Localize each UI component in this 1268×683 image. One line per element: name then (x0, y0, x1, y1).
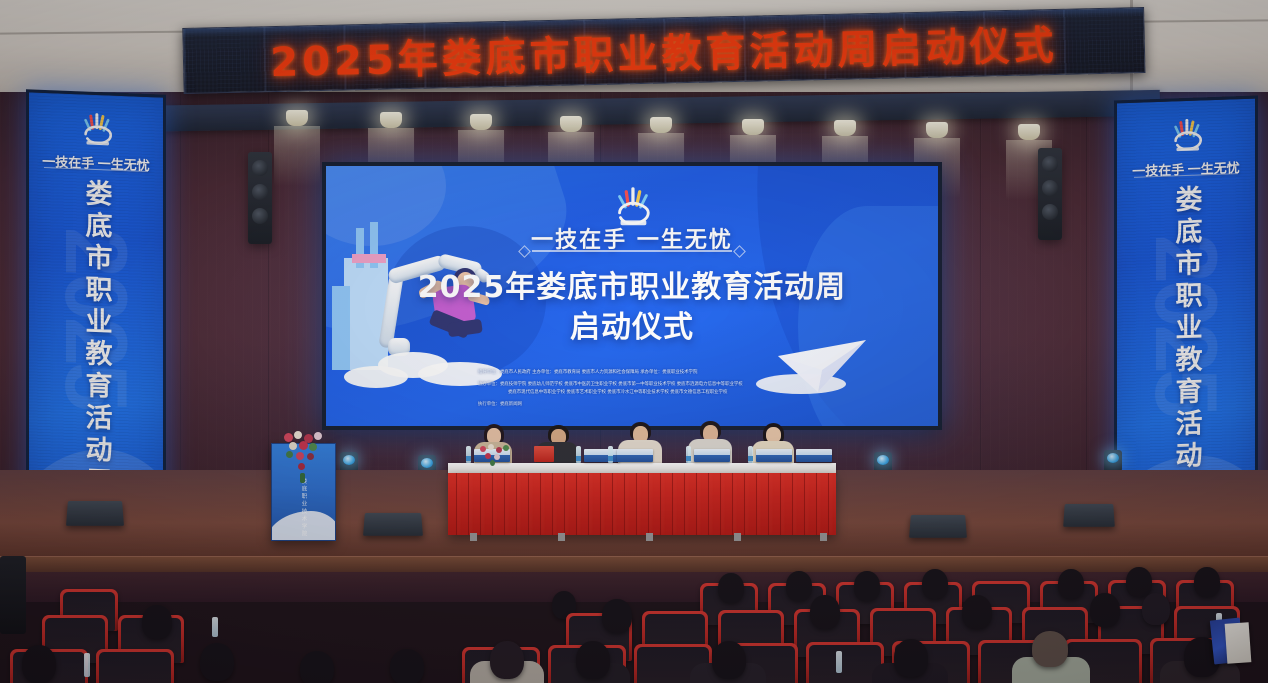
audience-head (922, 569, 948, 599)
water-bottle (576, 446, 581, 463)
screen-title-line2: 启动仪式 (326, 302, 938, 346)
water-bottle (748, 446, 753, 463)
auditorium-seat (96, 649, 174, 683)
stage-downlight (380, 112, 402, 128)
audience-head (576, 641, 610, 679)
stage-downlight (560, 116, 582, 132)
line-array-speaker-right (1038, 148, 1062, 240)
line-array-speaker-left (248, 152, 272, 244)
audience-head (718, 573, 744, 603)
program-insert-sheet (1225, 622, 1252, 664)
stage-downlight (470, 114, 492, 130)
table-foot (820, 533, 827, 541)
stage-monitor-wedge (1063, 504, 1115, 527)
light-lens (343, 455, 355, 465)
stage-downlight (286, 110, 308, 126)
speaker-cone (1042, 204, 1058, 220)
screen-title-line1: 2025年娄底市职业教育活动周 (326, 262, 938, 306)
water-bottle (212, 617, 218, 637)
speaker-cone (252, 184, 268, 200)
moving-head-light (1104, 450, 1122, 472)
audience-head (1058, 569, 1084, 599)
water-bottle (686, 446, 691, 463)
table-foot (646, 533, 653, 541)
audience-head (490, 641, 524, 679)
speaker-cone (1042, 180, 1058, 196)
light-lens (1107, 453, 1119, 463)
audience-head (1090, 593, 1120, 627)
stage-downlight (650, 117, 672, 133)
stage-downlight (834, 120, 856, 136)
audience-area (0, 565, 1268, 683)
audience-head-balding (1032, 631, 1068, 667)
stage-downlight (926, 122, 948, 138)
audience-head (810, 595, 840, 629)
speaker-cone (252, 160, 268, 176)
name-placard (617, 449, 653, 462)
stage-monitor-wedge (66, 501, 124, 526)
table-foot (558, 533, 565, 541)
flower-bouquet (280, 431, 328, 489)
audience-head (786, 571, 812, 601)
audience-head (1126, 567, 1152, 597)
stage-downlight (1018, 124, 1040, 140)
illustration-cloud (344, 366, 408, 388)
audience-head (390, 649, 424, 683)
audience-head (854, 571, 880, 601)
audience-head (712, 641, 746, 679)
credit-line: 指导单位：娄底市人民政府 主办单位：娄底市教育局 娄底市人力资源和社会保障局 承… (478, 369, 878, 378)
audience-head (200, 643, 234, 681)
audience-head (962, 595, 992, 629)
stage-downlight (742, 119, 764, 135)
stage-monitor-wedge (363, 513, 423, 536)
name-placard (584, 449, 620, 462)
table-foot (734, 533, 741, 541)
credit-line: 协办单位：娄底技师学院 娄底幼儿师范学校 娄底市中医药卫生职业学校 娄底市第一中… (478, 381, 878, 390)
auditorium-ceremony-photo: 2025年娄底市职业教育活动周启动仪式 2025 一技在手 一生无忧 娄底市职业… (0, 0, 1268, 683)
light-lens (421, 458, 433, 468)
stage-monitor-wedge (909, 515, 967, 538)
head-table-skirt (448, 473, 836, 535)
audience-head (1142, 593, 1170, 625)
screen-slogan-rule (532, 250, 732, 252)
audience-head (602, 599, 632, 633)
name-placard (694, 449, 730, 462)
water-bottle (608, 446, 613, 463)
water-bottle (466, 446, 471, 463)
name-placard (796, 449, 832, 462)
audience-head (1194, 567, 1220, 597)
water-bottle (84, 653, 90, 677)
water-bottle (836, 651, 842, 673)
speaker-cone (1042, 156, 1058, 172)
red-folder (534, 446, 554, 462)
audience-head (300, 651, 334, 683)
credit-line: 娄底市现代信息中等职业学校 娄底市艺术职业学校 娄底市冷水江中等职业技术学校 娄… (478, 389, 878, 398)
audience-head (142, 605, 172, 639)
audience-head (894, 639, 928, 677)
name-placard (756, 449, 792, 462)
speaker-cone (252, 208, 268, 224)
light-lens (877, 455, 889, 465)
table-foot (470, 533, 477, 541)
audience-head (22, 645, 56, 683)
credit-line: 执行单位：娄底新闻网 (478, 401, 878, 410)
main-stage-led-screen: 一技在手 一生无忧 2025年娄底市职业教育活动周 启动仪式 指导单位：娄底市人… (322, 162, 942, 430)
podium-wave-graphic (271, 511, 336, 541)
table-flower-arrangement (478, 444, 512, 466)
screen-credits-block: 指导单位：娄底市人民政府 主办单位：娄底市教育局 娄底市人力资源和社会保障局 承… (478, 369, 878, 409)
